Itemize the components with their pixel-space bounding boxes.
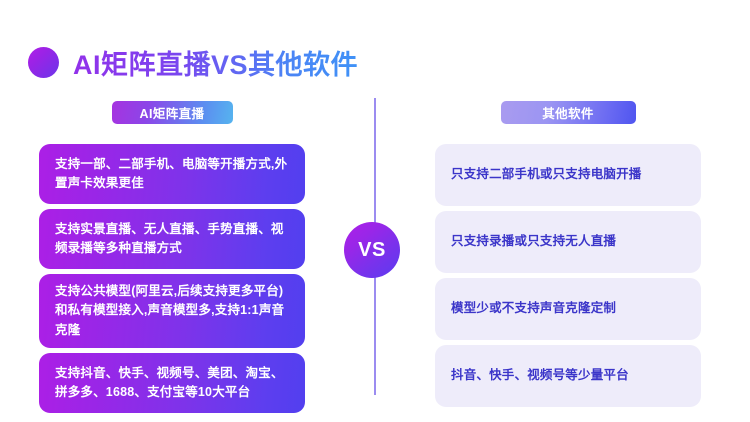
left-feature-card-2-text: 支持实景直播、无人直播、手势直播、视频录播等多种直播方式 — [55, 220, 291, 259]
right-feature-card-1-text: 只支持二部手机或只支持电脑开播 — [451, 165, 642, 184]
left-feature-card-1-text: 支持一部、二部手机、电脑等开播方式,外置声卡效果更佳 — [55, 155, 291, 194]
right-feature-card-3: 模型少或不支持声音克隆定制 — [435, 278, 701, 340]
left-feature-card-1: 支持一部、二部手机、电脑等开播方式,外置声卡效果更佳 — [39, 144, 305, 204]
right-feature-card-1: 只支持二部手机或只支持电脑开播 — [435, 144, 701, 206]
right-feature-card-2: 只支持录播或只支持无人直播 — [435, 211, 701, 273]
right-feature-card-4: 抖音、快手、视频号等少量平台 — [435, 345, 701, 407]
left-column: AI矩阵直播 支持一部、二部手机、电脑等开播方式,外置声卡效果更佳 支持实景直播… — [39, 101, 305, 413]
circle-bullet-icon — [28, 47, 59, 78]
left-feature-card-4-text: 支持抖音、快手、视频号、美团、淘宝、拼多多、1688、支付宝等10大平台 — [55, 364, 291, 403]
left-column-badge: AI矩阵直播 — [112, 101, 233, 124]
page-header: AI矩阵直播VS其他软件 — [28, 41, 358, 83]
right-column: 其他软件 只支持二部手机或只支持电脑开播 只支持录播或只支持无人直播 模型少或不… — [435, 101, 701, 407]
right-feature-card-4-text: 抖音、快手、视频号等少量平台 — [451, 366, 629, 385]
left-card-list: 支持一部、二部手机、电脑等开播方式,外置声卡效果更佳 支持实景直播、无人直播、手… — [39, 144, 305, 413]
right-column-badge: 其他软件 — [501, 101, 636, 124]
left-feature-card-4: 支持抖音、快手、视频号、美团、淘宝、拼多多、1688、支付宝等10大平台 — [39, 353, 305, 413]
right-feature-card-3-text: 模型少或不支持声音克隆定制 — [451, 299, 616, 318]
right-feature-card-2-text: 只支持录播或只支持无人直播 — [451, 232, 616, 251]
vs-badge: VS — [344, 222, 400, 278]
right-card-list: 只支持二部手机或只支持电脑开播 只支持录播或只支持无人直播 模型少或不支持声音克… — [435, 144, 701, 407]
left-feature-card-3-text: 支持公共模型(阿里云,后续支持更多平台)和私有模型接入,声音模型多,支持1:1声… — [55, 282, 291, 340]
left-feature-card-3: 支持公共模型(阿里云,后续支持更多平台)和私有模型接入,声音模型多,支持1:1声… — [39, 274, 305, 348]
left-feature-card-2: 支持实景直播、无人直播、手势直播、视频录播等多种直播方式 — [39, 209, 305, 269]
page-title: AI矩阵直播VS其他软件 — [73, 43, 358, 82]
